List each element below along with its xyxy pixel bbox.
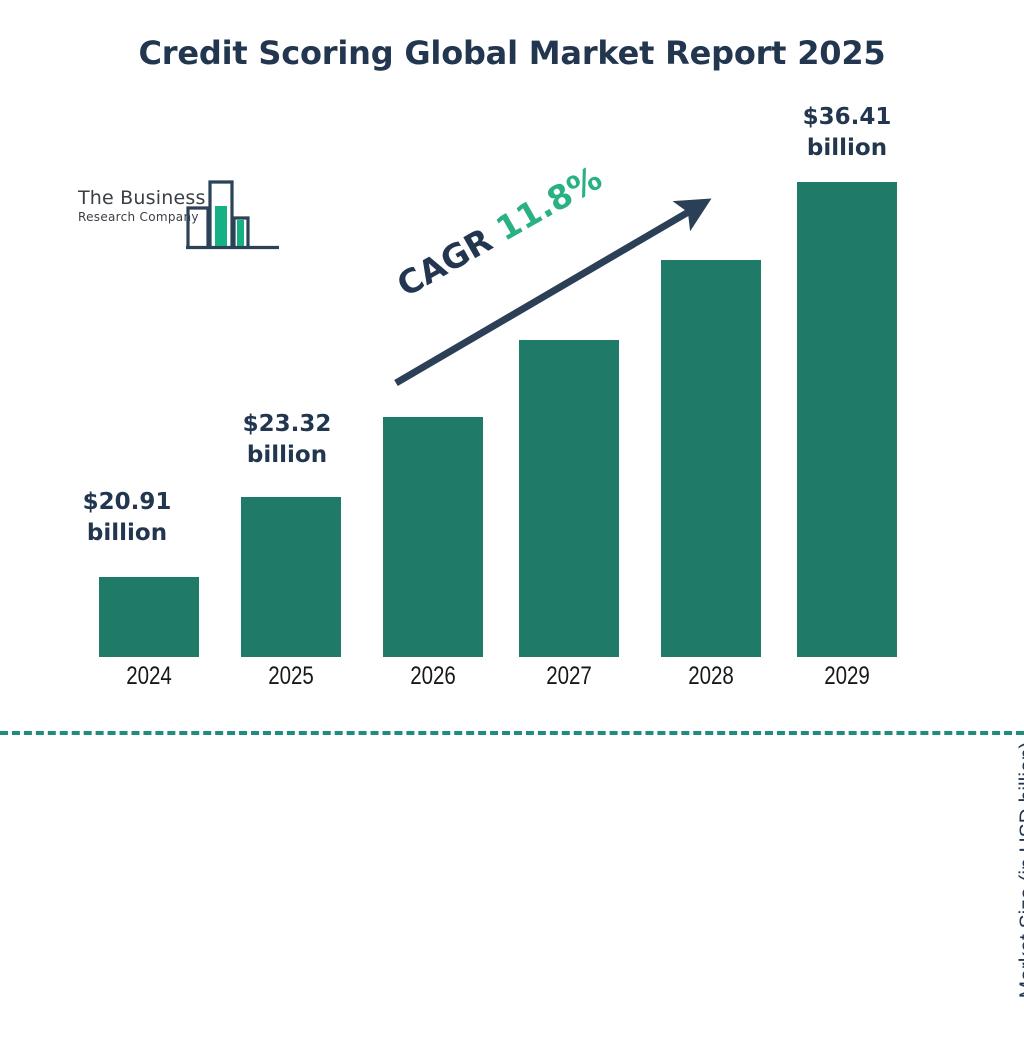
value-label-2025-amount: $23.32 [222, 409, 352, 440]
value-label-2024-unit: billion [62, 518, 192, 549]
x-tick-2027: 2027 [520, 662, 618, 691]
footer-divider [0, 731, 1024, 735]
bar-2025 [241, 497, 341, 657]
value-label-2024-amount: $20.91 [62, 487, 192, 518]
plot-area: $20.91 billion $23.32 billion $36.41 bil… [0, 0, 1024, 768]
value-label-2029: $36.41 billion [782, 102, 912, 164]
bar-2026 [383, 417, 483, 657]
bar-2029 [797, 182, 897, 657]
x-tick-2024: 2024 [100, 662, 198, 691]
chart-canvas: Credit Scoring Global Market Report 2025… [0, 0, 1024, 768]
value-label-2025: $23.32 billion [222, 409, 352, 471]
bar-2027 [519, 340, 619, 657]
value-label-2025-unit: billion [222, 440, 352, 471]
y-axis-title: Market Size (in USD billion) [1016, 680, 1024, 1060]
x-tick-2025: 2025 [242, 662, 340, 691]
x-tick-2029: 2029 [798, 662, 896, 691]
value-label-2029-amount: $36.41 [782, 102, 912, 133]
value-label-2024: $20.91 billion [62, 487, 192, 549]
x-tick-2026: 2026 [384, 662, 482, 691]
bar-2024 [99, 577, 199, 657]
bar-2028 [661, 260, 761, 657]
value-label-2029-unit: billion [782, 133, 912, 164]
x-tick-2028: 2028 [662, 662, 760, 691]
